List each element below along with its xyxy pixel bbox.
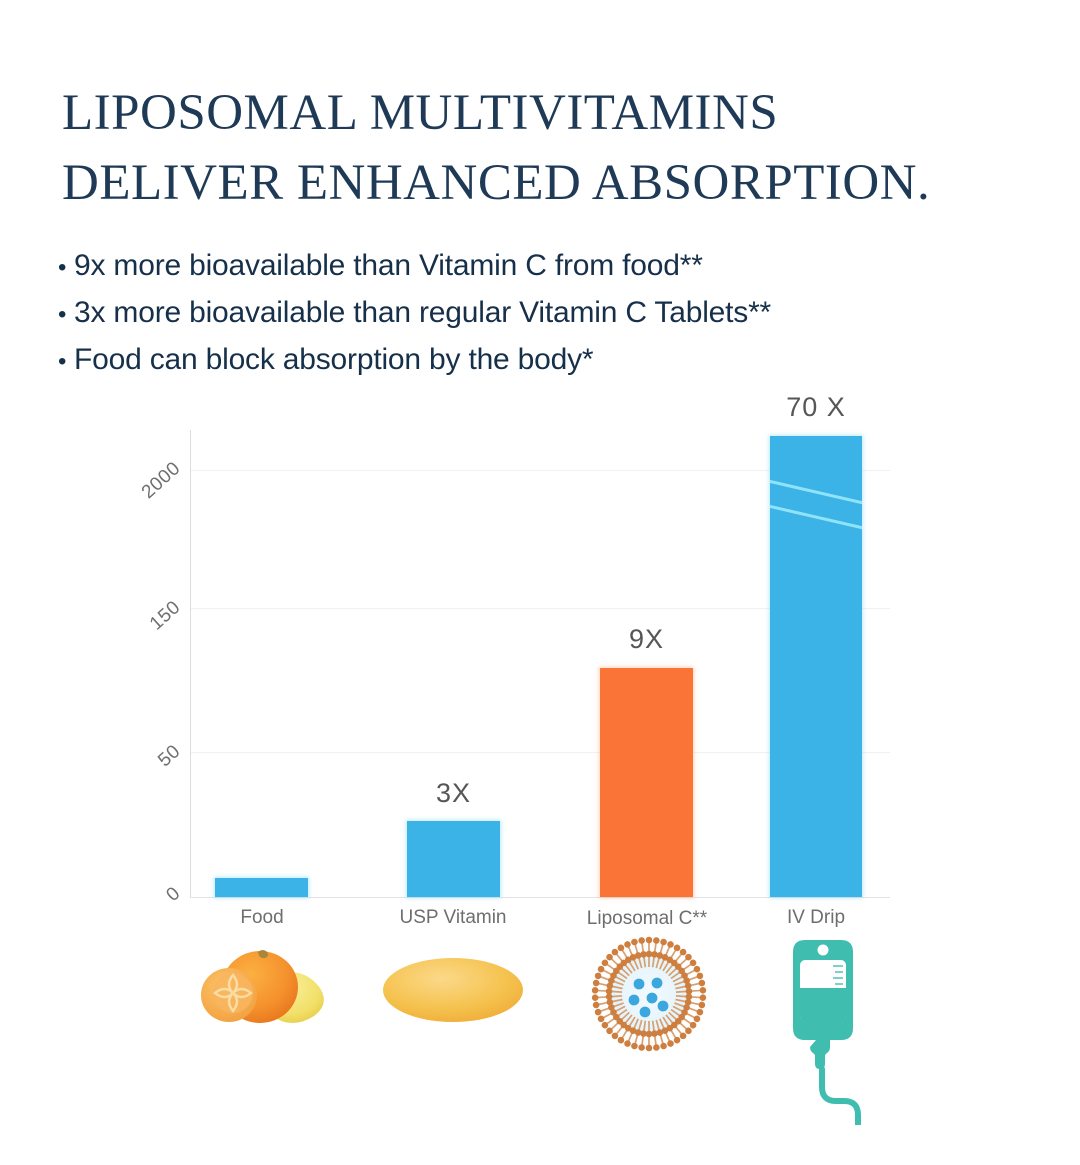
liposome-icon [576,936,722,1056]
y-axis-tick-50: 50 [117,741,185,806]
bar-iv-drip [770,436,862,897]
iv-drip-bag-icon [763,930,903,1125]
x-axis-label-iv-drip: IV Drip [754,907,878,929]
x-axis-label-usp-vitamin: USP Vitamin [382,907,524,929]
y-axis-line [190,430,191,897]
axis-break-slash-upper [770,479,862,508]
value-label-iv-drip: 70 X [762,392,870,423]
citrus-fruit-icon [196,940,336,1030]
axis-break-slash-lower [770,504,862,533]
x-axis-line [190,897,890,898]
x-axis-label-food: Food [201,907,323,929]
absorption-bar-chart: 2000 150 50 0 3X 9X 70 X Food USP Vitami… [0,0,1080,1165]
x-axis-label-liposomal-c: Liposomal C** [574,908,720,930]
y-axis-tick-150: 150 [113,597,186,666]
value-label-usp-vitamin: 3X [407,778,500,809]
value-label-liposomal-c: 9X [600,624,693,655]
bar-food [215,878,308,897]
y-axis-tick-2000: 2000 [111,458,185,528]
bar-usp-vitamin [407,821,500,897]
y-axis-tick-0: 0 [128,883,186,938]
tablet-pill-icon [378,955,528,1025]
bar-liposomal-c [600,668,693,897]
